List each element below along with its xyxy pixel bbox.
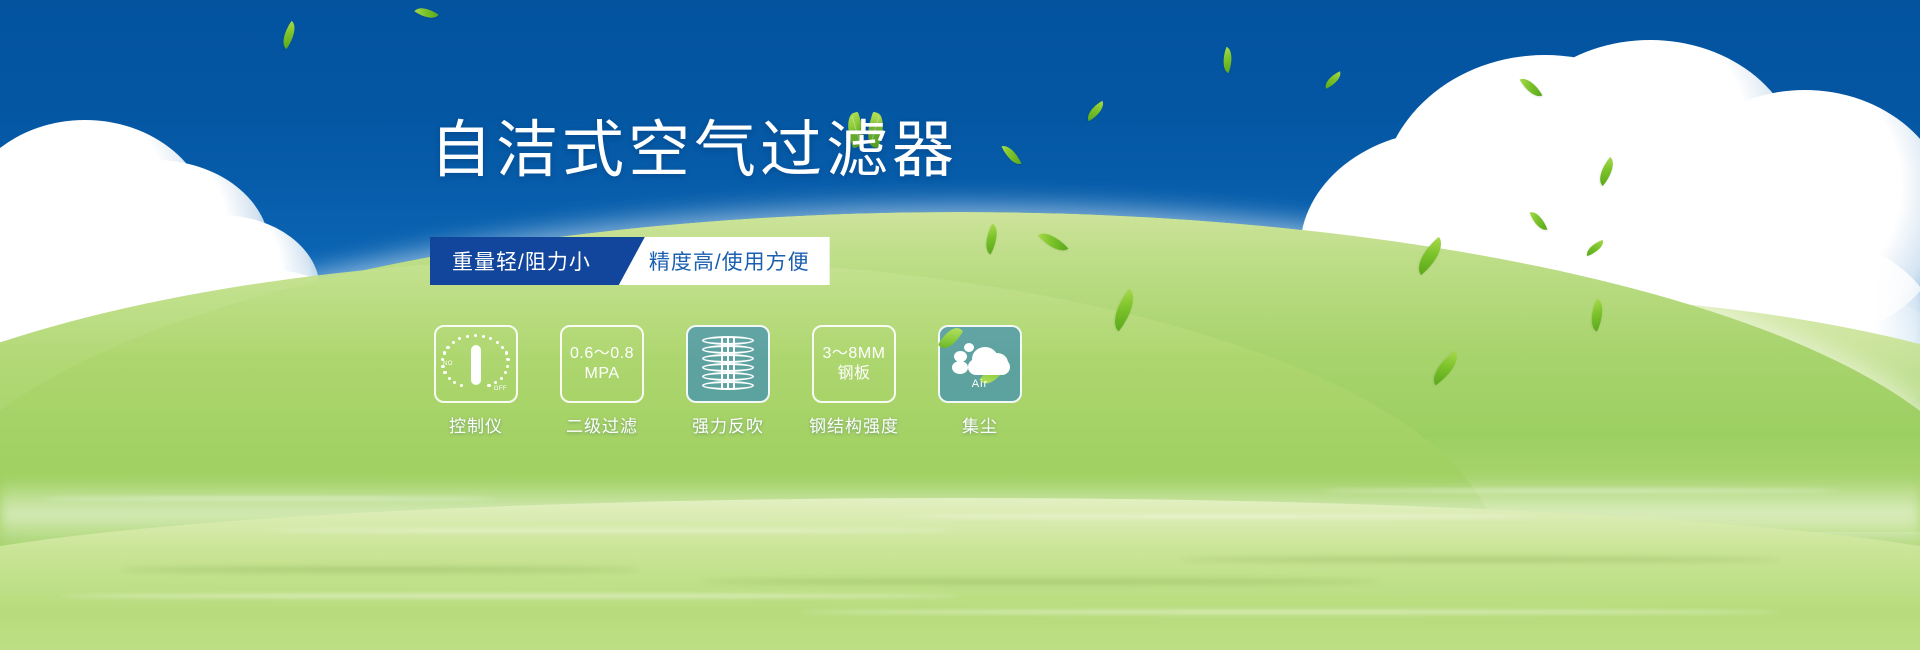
steel-plate-text-icon: 3～8MM 钢板 [812,325,896,403]
gauge-label-off: OFF [494,386,507,392]
pressure-text-icon: 0.6～0.8 MPA [560,325,644,403]
feature-caption: 控制仪 [449,412,503,437]
feature-item-dust-collection[interactable]: Air 集尘 [938,325,1022,437]
steel-material: 钢板 [837,365,870,382]
gauge-dial-icon: NO OFF [434,325,518,403]
feature-caption: 集尘 [962,412,998,437]
pressure-value: 0.6～0.8 [570,345,634,362]
feature-caption: 二级过滤 [566,412,638,437]
feature-caption: 钢结构强度 [809,412,899,437]
hero-banner: 自洁式空气过滤器 重量轻/阻力小 精度高/使用方便 [0,0,1920,650]
steel-thickness: 3～8MM [823,345,886,362]
feature-item-backblow[interactable]: 强力反吹 [686,325,770,437]
tagline-group: 重量轻/阻力小 精度高/使用方便 [430,237,830,285]
air-cloud-icon: Air [938,325,1022,403]
pressure-unit: MPA [585,365,620,382]
coil-filter-icon [686,325,770,403]
feature-caption: 强力反吹 [692,412,764,437]
feature-list: NO OFF 控制仪 0.6～0.8 MPA 二级过滤 [434,325,1022,437]
banner-content: 自洁式空气过滤器 重量轻/阻力小 精度高/使用方便 [0,0,1920,650]
feature-item-steel-strength[interactable]: 3～8MM 钢板 钢结构强度 [812,325,896,437]
page-title: 自洁式空气过滤器 [430,120,958,182]
gauge-label-no: NO [443,361,453,367]
feature-item-controller[interactable]: NO OFF 控制仪 [434,325,518,437]
tagline-pill-right: 精度高/使用方便 [619,237,830,285]
tagline-pill-left: 重量轻/阻力小 [430,237,645,285]
feature-item-two-stage-filter[interactable]: 0.6～0.8 MPA 二级过滤 [560,325,644,437]
air-label: Air [950,378,1010,390]
